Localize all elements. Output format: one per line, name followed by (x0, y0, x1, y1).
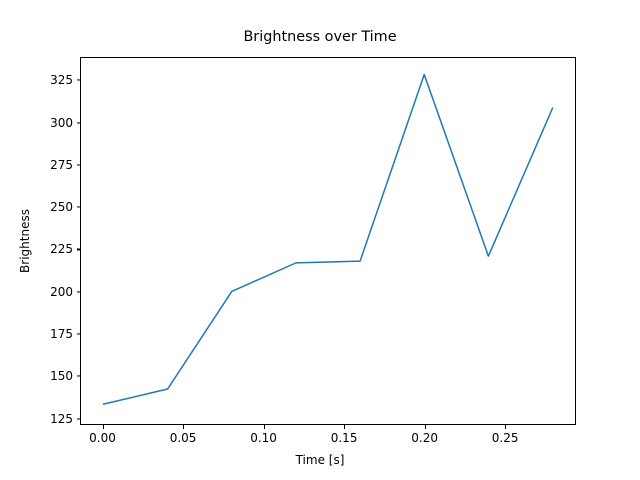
y-tick-label: 150 (13, 370, 73, 382)
x-tick-mark (425, 425, 426, 429)
y-tick-label: 125 (13, 413, 73, 425)
brightness-line-series (103, 74, 552, 404)
y-tick-label: 200 (13, 286, 73, 298)
line-plot-svg (81, 58, 575, 424)
y-axis-label: Brightness (18, 209, 32, 273)
x-tick-label: 0.25 (470, 431, 540, 445)
x-axis-label: Time [s] (0, 453, 640, 467)
y-tick-label: 275 (13, 159, 73, 171)
chart-title: Brightness over Time (0, 29, 640, 45)
x-tick-mark (505, 425, 506, 429)
x-tick-label: 0.10 (229, 431, 299, 445)
x-tick-label: 0.15 (309, 431, 379, 445)
x-tick-mark (344, 425, 345, 429)
y-tick-label: 300 (13, 117, 73, 129)
x-tick-mark (103, 425, 104, 429)
x-tick-label: 0.05 (148, 431, 218, 445)
plot-axes (80, 57, 576, 425)
x-tick-mark (183, 425, 184, 429)
x-tick-label: 0.00 (68, 431, 138, 445)
x-tick-label: 0.20 (390, 431, 460, 445)
x-tick-mark (264, 425, 265, 429)
matplotlib-figure: Brightness over Time 1251501752002252502… (0, 0, 640, 480)
y-tick-label: 325 (13, 74, 73, 86)
y-tick-label: 175 (13, 328, 73, 340)
